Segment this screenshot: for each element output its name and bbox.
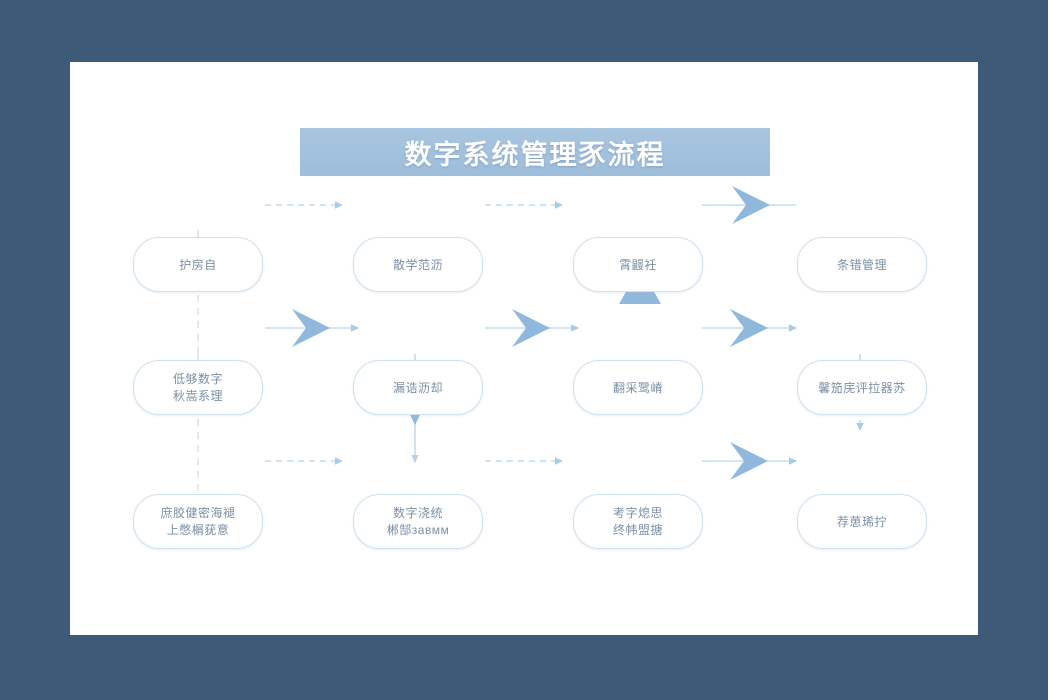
flow-node-label: 荐葸琋拧 <box>837 514 887 530</box>
flow-node-label: 翻采鹭嵴 <box>613 380 663 396</box>
flow-node-label: 庶胶健密海褪 <box>160 505 235 521</box>
connector-r1c3-r1c4 <box>702 186 796 224</box>
flow-node-r1c3[interactable]: 霄鼹衽 <box>573 237 703 292</box>
flow-node-r2c3[interactable]: 翻采鹭嵴 <box>573 360 703 415</box>
flow-node-r1c1[interactable]: 护房自 <box>133 237 263 292</box>
flow-node-r3c4[interactable]: 荐葸琋拧 <box>797 494 927 549</box>
flow-node-r3c1[interactable]: 庶胶健密海褪 上憋榍莸意 <box>133 494 263 549</box>
flow-node-r1c2[interactable]: 散学范沥 <box>353 237 483 292</box>
connector-r2c3-r2c4 <box>702 309 796 347</box>
flow-node-r2c1[interactable]: 低够数字 秋嵩系理 <box>133 360 263 415</box>
flow-node-r3c2[interactable]: 数字浇统 郴郜завмм <box>353 494 483 549</box>
flow-node-r2c4[interactable]: 馨笳庑评拉器苏 <box>797 360 927 415</box>
flow-node-label: 馨笳庑评拉器苏 <box>818 380 906 396</box>
flow-node-label: 霄鼹衽 <box>619 257 657 273</box>
flow-node-label-line2: 终帏盟搪 <box>613 522 663 538</box>
flow-node-label: 数字浇统 <box>387 505 449 521</box>
flow-node-label-line2: 秋嵩系理 <box>173 388 223 404</box>
flow-node-label: 低够数字 <box>173 371 223 387</box>
slide-frame: 数字系统管理豕流程 <box>0 0 1048 700</box>
flow-node-r1c4[interactable]: 条错管理 <box>797 237 927 292</box>
flow-node-label: 散学范沥 <box>393 257 443 273</box>
flow-node-r2c2[interactable]: 漏诰沥却 <box>353 360 483 415</box>
flow-node-label-line2: 上憋榍莸意 <box>160 522 235 538</box>
flow-node-label: 护房自 <box>179 257 217 273</box>
flow-node-label-line2: 郴郜завмм <box>387 522 449 538</box>
slide-card: 数字系统管理豕流程 <box>70 62 978 635</box>
flow-node-r3c3[interactable]: 考字熄思 终帏盟搪 <box>573 494 703 549</box>
connector-r2c2-r2c3 <box>485 309 578 347</box>
flow-node-label: 漏诰沥却 <box>393 380 443 396</box>
connector-r3c3-r3c4 <box>702 442 796 480</box>
flow-node-label: 条错管理 <box>837 257 887 273</box>
connector-r2c1-r2c2 <box>265 309 358 347</box>
connector-layer <box>70 62 978 635</box>
flow-node-label: 考字熄思 <box>613 505 663 521</box>
